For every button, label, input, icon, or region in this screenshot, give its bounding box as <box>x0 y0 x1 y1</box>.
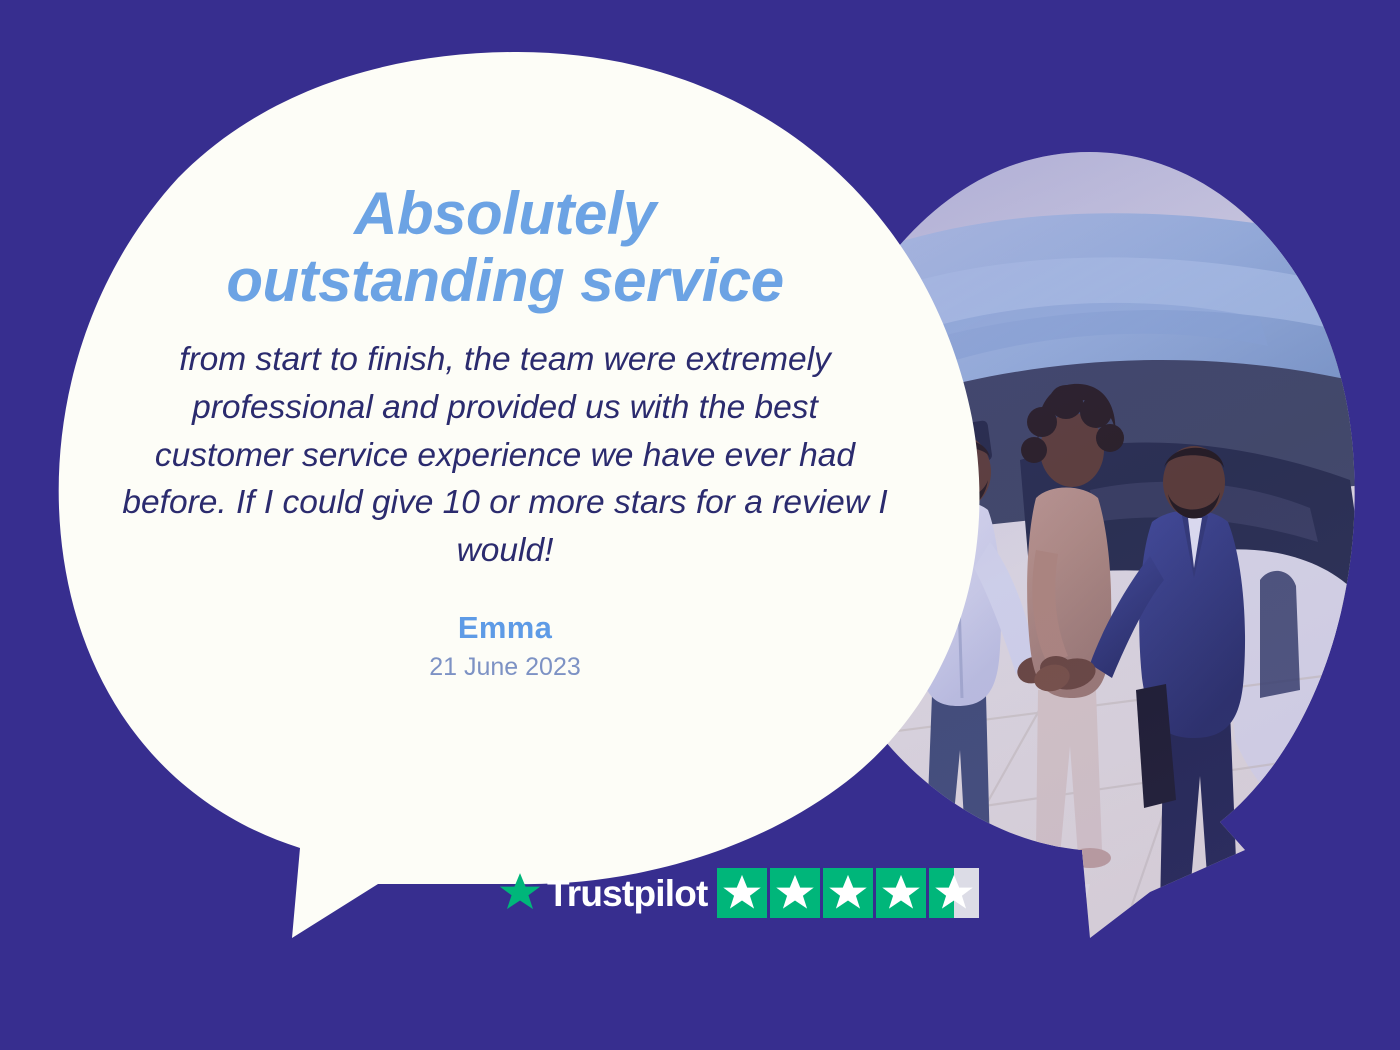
quote-author-name: Emma <box>95 610 915 646</box>
trustpilot-star-icon <box>497 870 543 916</box>
trustpilot-logo: Trustpilot <box>497 870 708 916</box>
star-2-full <box>770 868 820 918</box>
trustpilot-rating[interactable]: Trustpilot <box>497 866 979 920</box>
quote-content: Absolutely outstanding service from star… <box>95 180 915 682</box>
star-1-full <box>717 868 767 918</box>
quote-body: from start to finish, the team were extr… <box>95 336 915 574</box>
quote-date: 21 June 2023 <box>95 653 915 682</box>
quote-headline-line-1: Absolutely <box>354 180 656 247</box>
trustpilot-wordmark: Trustpilot <box>547 875 708 912</box>
quote-headline-line-2: outstanding service <box>226 247 783 314</box>
star-4-full <box>876 868 926 918</box>
review-testimonial-graphic: Absolutely outstanding service from star… <box>0 0 1400 1050</box>
trustpilot-stars <box>717 868 979 918</box>
quote-headline: Absolutely outstanding service <box>95 180 915 314</box>
star-3-full <box>823 868 873 918</box>
star-5-half <box>929 868 979 918</box>
